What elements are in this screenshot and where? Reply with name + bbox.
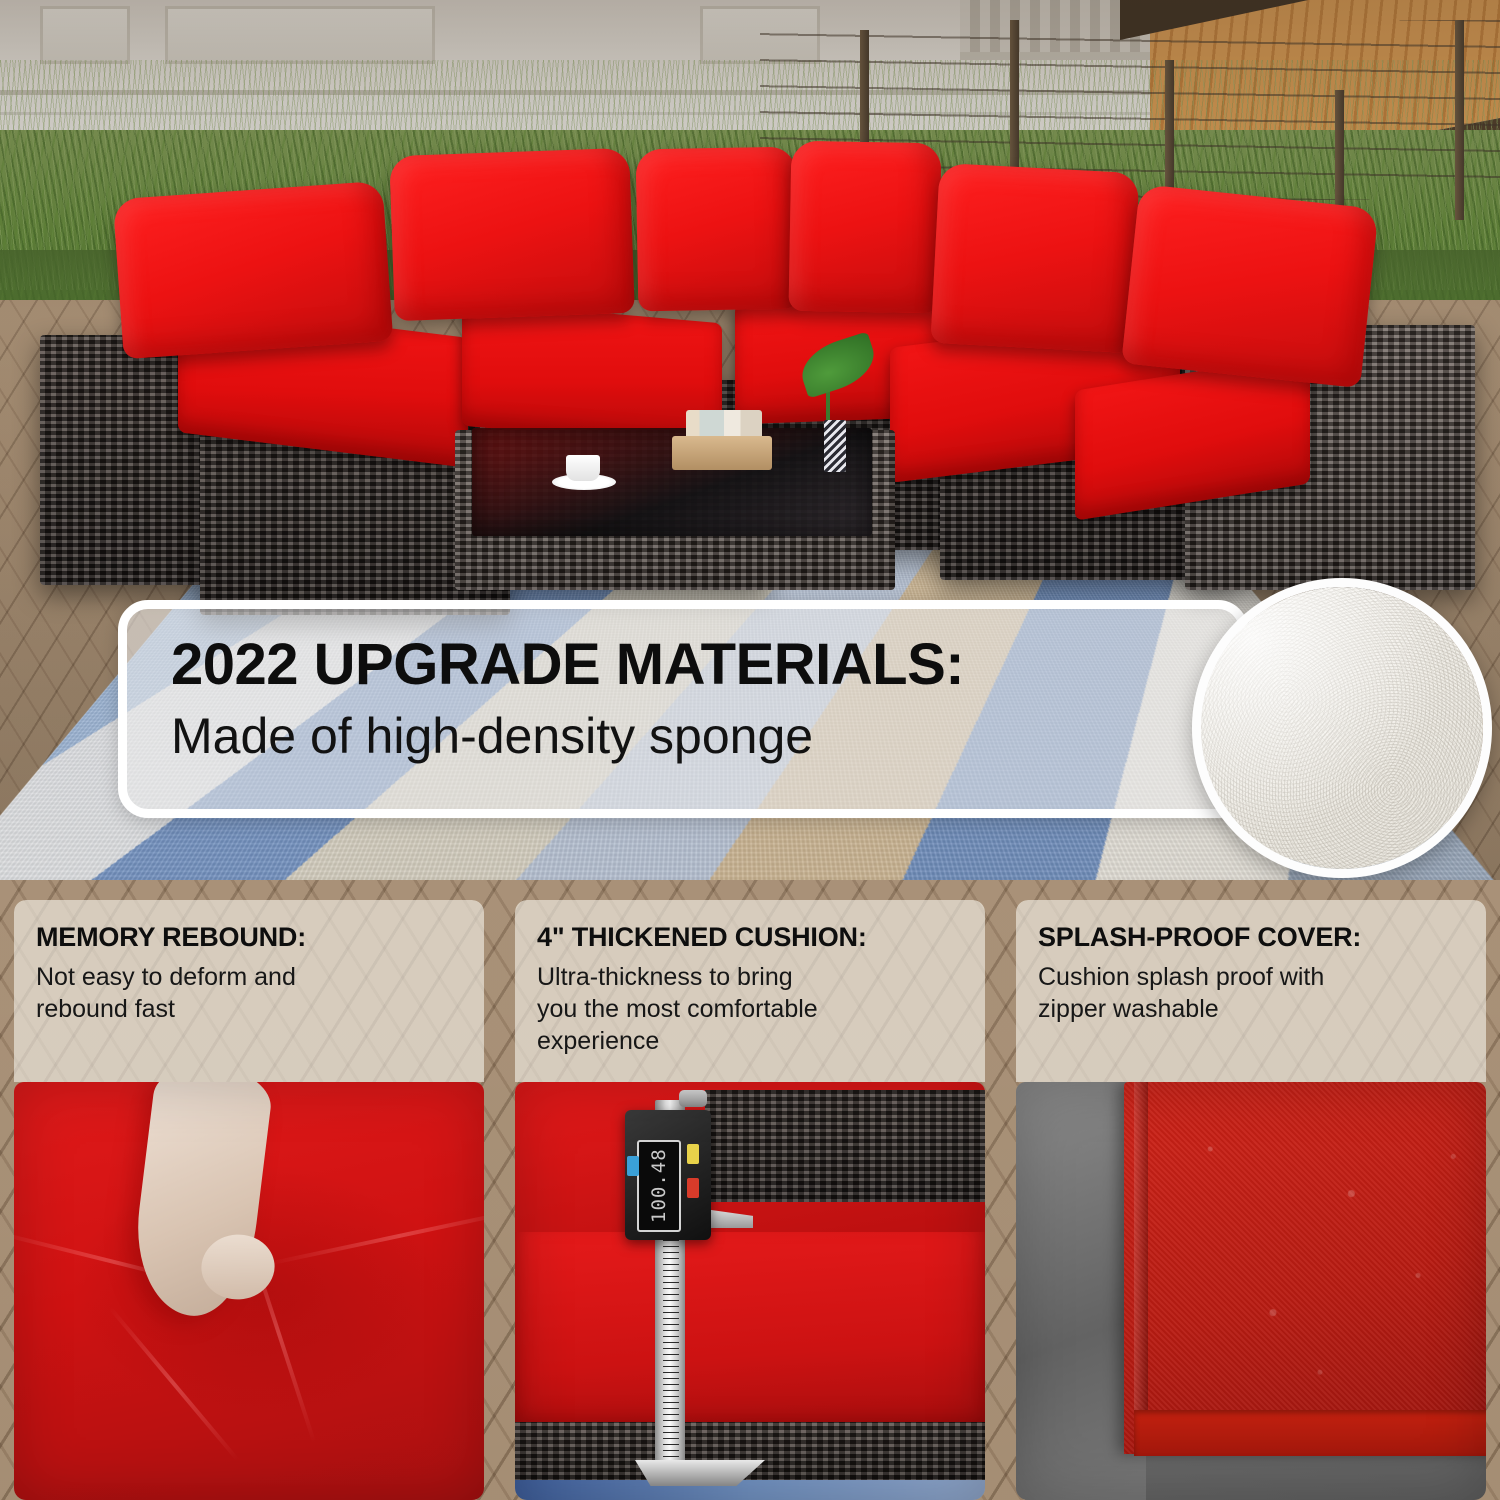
caliper-reading: 100.48 xyxy=(643,1146,675,1226)
feature-photo-hand-pressing-cushion xyxy=(14,1082,484,1500)
caliper-lcd-display: 100.48 xyxy=(637,1140,681,1232)
feature-photo-caliper-measurement: 100.48 xyxy=(515,1082,985,1500)
back-cushion xyxy=(113,181,394,359)
back-cushion xyxy=(930,163,1139,353)
feature-card-thickened-cushion[interactable]: 4" THICKENED CUSHION: Ultra-thickness to… xyxy=(515,900,985,1500)
back-cushion xyxy=(1121,184,1379,388)
caliper-scale-ticks xyxy=(663,1234,679,1476)
vase-icon xyxy=(824,420,846,472)
banner-subhead: Made of high-density sponge xyxy=(171,710,1239,763)
wooden-tray-icon xyxy=(672,436,772,470)
caliper-button-zero[interactable] xyxy=(687,1144,699,1164)
banner-headline: 2022 UPGRADE MATERIALS: xyxy=(171,635,1239,694)
feature-body: Not easy to deform and rebound fast xyxy=(36,961,484,1025)
sponge-closeup-circle-icon xyxy=(1192,578,1492,878)
feature-card-header: MEMORY REBOUND: Not easy to deform and r… xyxy=(14,900,484,1082)
back-cushion xyxy=(636,147,799,312)
back-cushion xyxy=(389,148,635,321)
coffee-cup-icon xyxy=(566,455,600,481)
wicker-backdrop xyxy=(705,1090,985,1202)
feature-card-header: SPLASH-PROOF COVER: Cushion splash proof… xyxy=(1016,900,1486,1082)
feature-body: Cushion splash proof with zipper washabl… xyxy=(1038,961,1486,1025)
seat-cushion-measured xyxy=(515,1232,985,1432)
feature-title: 4" THICKENED CUSHION: xyxy=(537,922,985,953)
seat-cushion xyxy=(462,301,722,449)
feature-panels: MEMORY REBOUND: Not easy to deform and r… xyxy=(0,880,1500,1500)
feature-title: SPLASH-PROOF COVER: xyxy=(1038,922,1486,953)
fabric-seam xyxy=(1134,1082,1148,1454)
caliper-thumb-knob xyxy=(679,1090,707,1107)
upgrade-banner: 2022 UPGRADE MATERIALS: Made of high-den… xyxy=(118,600,1248,818)
feature-title: MEMORY REBOUND: xyxy=(36,922,484,953)
rug-edge xyxy=(515,1480,985,1500)
product-feature-infographic: 2022 UPGRADE MATERIALS: Made of high-den… xyxy=(0,0,1500,1500)
feature-photo-water-beading xyxy=(1016,1082,1486,1500)
red-fabric-with-droplets xyxy=(1124,1082,1486,1454)
hero-scene: 2022 UPGRADE MATERIALS: Made of high-den… xyxy=(0,0,1500,900)
feature-card-memory-rebound[interactable]: MEMORY REBOUND: Not easy to deform and r… xyxy=(14,900,484,1500)
back-cushion xyxy=(789,141,942,314)
feature-card-splash-proof-cover[interactable]: SPLASH-PROOF COVER: Cushion splash proof… xyxy=(1016,900,1486,1500)
sponge-texture xyxy=(1201,587,1483,869)
feature-card-header: 4" THICKENED CUSHION: Ultra-thickness to… xyxy=(515,900,985,1082)
caliper-button-mmin[interactable] xyxy=(627,1156,639,1176)
feature-body: Ultra-thickness to bring you the most co… xyxy=(537,961,985,1057)
caliper-button-onoff[interactable] xyxy=(687,1178,699,1198)
fabric-hem xyxy=(1134,1410,1486,1456)
